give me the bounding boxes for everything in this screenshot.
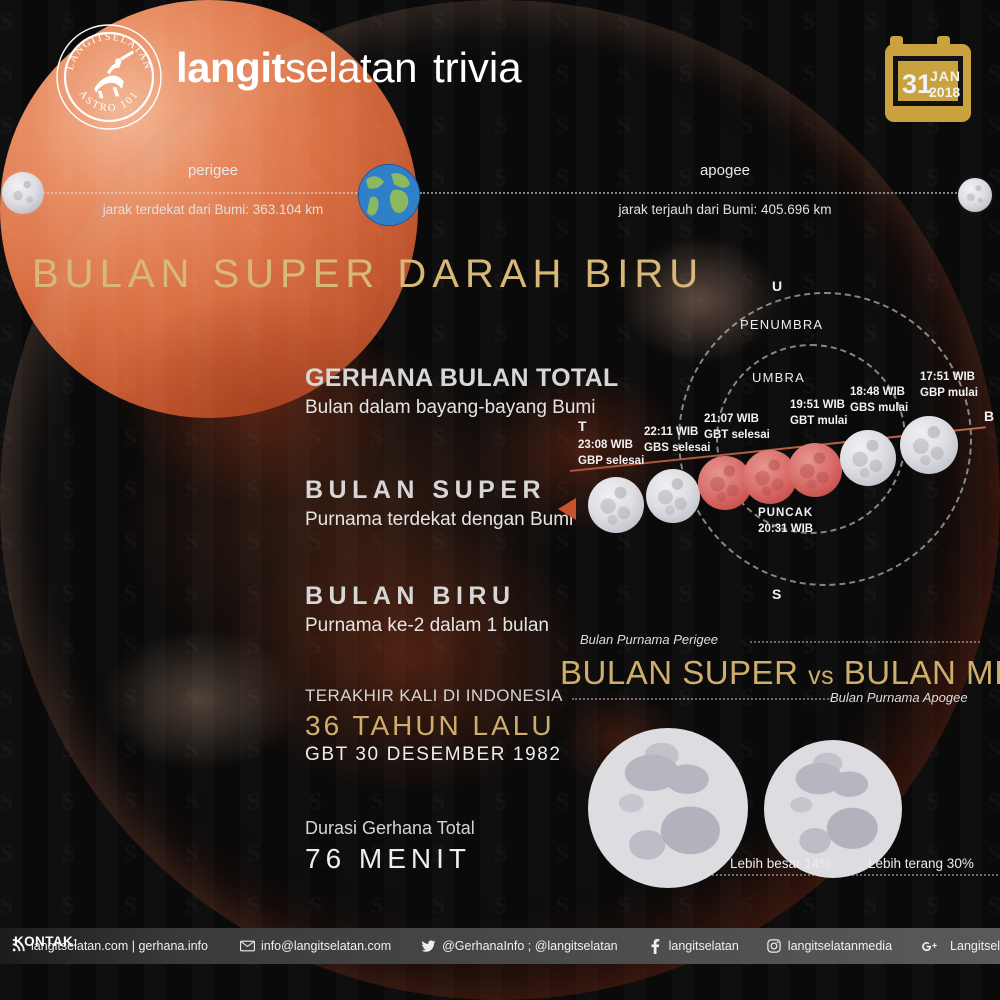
phase-event: GBT mulai: [790, 414, 848, 430]
svg-text:2018: 2018: [929, 84, 960, 100]
feature-subtext: Purnama terdekat dengan Bumi: [305, 509, 573, 531]
svg-text:ASTRO 101: ASTRO 101: [76, 89, 141, 115]
duration-label: Durasi Gerhana Total: [305, 818, 475, 839]
moon-phase-gbp-selesai: [588, 477, 644, 533]
brand-trivia: trivia: [433, 44, 522, 91]
brand-title: langitselatantrivia: [176, 44, 522, 92]
duration-value: 76 MENIT: [305, 843, 475, 875]
duration-block: Durasi Gerhana Total 76 MENIT: [305, 818, 475, 875]
perigee-label: perigee: [98, 162, 328, 179]
super-vs-mini-section: Bulan Purnama Perigee BULAN SUPER vs BUL…: [560, 628, 1000, 898]
kontak-label: KONTAK:: [14, 934, 78, 949]
peak-time: 20:31 WIB: [758, 522, 813, 538]
history-stats-block: TERAKHIR KALI DI INDONESIA 36 TAHUN LALU…: [305, 686, 563, 766]
svg-text:31: 31: [902, 69, 932, 99]
footer-item-text: langitselatan: [669, 939, 739, 953]
comparison-title-vs: vs: [808, 662, 834, 690]
phase-time: 18:48 WIB: [850, 385, 908, 401]
phase-event: GBS mulai: [850, 401, 908, 417]
moon-phase-gbt-mulai: [788, 443, 842, 497]
caption-lebih-terang: Lebih terang 30%: [868, 856, 974, 871]
feature-subtext: Purnama ke-2 dalam 1 bulan: [305, 615, 549, 637]
phase-label-gbp-mulai: 17:51 WIB GBP mulai: [920, 370, 978, 401]
comparison-bottom-dotline: [572, 698, 832, 700]
axis-label-selatan: S: [772, 586, 781, 602]
feature-heading: BULAN BIRU: [305, 582, 549, 611]
super-moon-maria: [588, 728, 748, 888]
years-ago-value: 36 TAHUN LALU: [305, 710, 563, 742]
apogee-label: apogee: [610, 162, 840, 179]
perigee-moon-icon: [2, 172, 44, 214]
phase-label-gbs-mulai: 18:48 WIB GBS mulai: [850, 385, 908, 416]
feature-heading: BULAN SUPER: [305, 476, 573, 505]
perigee-dotted-line: [36, 192, 360, 194]
footer-item-text: @GerhanaInfo ; @langitselatan: [442, 939, 617, 953]
comparison-title: BULAN SUPER vs BULAN MINI: [560, 654, 1000, 692]
comparison-top-dotline: [750, 641, 980, 643]
caption-lebih-besar: Lebih besar 14%: [730, 856, 831, 871]
calendar-date-badge: 31 JAN 2018 31 JAN 2018: [884, 32, 972, 124]
phase-event: GBS selesai: [644, 441, 710, 457]
instagram-icon: [767, 939, 782, 954]
comparison-title-left: BULAN SUPER: [560, 654, 798, 691]
comparison-top-note: Bulan Purnama Perigee: [580, 632, 718, 647]
footer-item-googleplus[interactable]: LangitselatanMedia: [920, 939, 1000, 954]
axis-label-barat: B: [984, 408, 994, 424]
phase-event: GBP mulai: [920, 386, 978, 402]
infographic-page: s s s s s s s s s s s s s s s s s s s s …: [0, 0, 1000, 1000]
eclipse-diagram: U S T B PENUMBRA UMBRA 23:08 WIB GBP sel…: [540, 270, 1000, 620]
comparison-caption-dotline: [708, 874, 998, 876]
brand-light: selatan: [285, 44, 417, 91]
header: LANGITSELATAN ASTRO 101 langitselatantri…: [0, 0, 1000, 148]
phase-time: 22:11 WIB: [644, 425, 710, 441]
phase-event: GBT selesai: [704, 428, 770, 444]
phase-label-gbt-selesai: 21:07 WIB GBT selesai: [704, 412, 770, 443]
phase-label-gbp-selesai: 23:08 WIB GBP selesai: [578, 438, 644, 469]
footer-item-text: LangitselatanMedia: [950, 939, 1000, 953]
orbit-distance-row: perigee jarak terdekat dari Bumi: 363.10…: [0, 150, 1000, 236]
moon-phase-gbs-selesai: [646, 469, 700, 523]
phase-event: GBP selesai: [578, 454, 644, 470]
super-moon-compare-disc: [588, 728, 748, 888]
apogee-detail: jarak terjauh dari Bumi: 405.696 km: [590, 202, 860, 217]
googleplus-icon: [920, 939, 944, 954]
phase-label-gbs-selesai: 22:11 WIB GBS selesai: [644, 425, 710, 456]
comparison-bottom-note: Bulan Purnama Apogee: [830, 690, 968, 705]
footer-contact-bar: langitselatan.com | gerhana.info info@la…: [0, 928, 1000, 964]
peak-label-block: PUNCAK 20:31 WIB: [758, 506, 813, 537]
svg-text:LANGITSELATAN: LANGITSELATAN: [65, 32, 154, 71]
phase-time: 23:08 WIB: [578, 438, 644, 454]
brand-bold: langit: [176, 44, 285, 91]
perigee-detail: jarak terdekat dari Bumi: 363.104 km: [78, 202, 348, 217]
earth-icon: [358, 164, 420, 226]
peak-label: PUNCAK: [758, 506, 813, 522]
phase-time: 21:07 WIB: [704, 412, 770, 428]
footer-item-email[interactable]: info@langitselatan.com: [240, 939, 391, 954]
moon-phase-gbs-mulai: [840, 430, 896, 486]
umbra-label: UMBRA: [752, 370, 805, 385]
moon-phase-gbp-mulai: [900, 416, 958, 474]
twitter-icon: [421, 939, 436, 954]
phase-label-gbt-mulai: 19:51 WIB GBT mulai: [790, 398, 848, 429]
phase-time: 17:51 WIB: [920, 370, 978, 386]
langitselatan-seal-logo: LANGITSELATAN ASTRO 101: [54, 22, 164, 132]
footer-item-text: info@langitselatan.com: [261, 939, 391, 953]
last-time-label: TERAKHIR KALI DI INDONESIA: [305, 686, 563, 706]
axis-label-utara: U: [772, 278, 782, 294]
apogee-dotted-line: [420, 192, 968, 194]
comparison-title-right: BULAN MINI: [844, 654, 1000, 691]
footer-item-facebook[interactable]: langitselatan: [648, 939, 739, 954]
feature-bulan-biru: BULAN BIRU Purnama ke-2 dalam 1 bulan: [305, 582, 549, 637]
footer-item-instagram[interactable]: langitselatanmedia: [767, 939, 892, 954]
footer-item-text: langitselatanmedia: [788, 939, 892, 953]
axis-label-timur: T: [578, 418, 587, 434]
apogee-moon-icon: [958, 178, 992, 212]
penumbra-label: PENUMBRA: [740, 317, 823, 332]
last-event-date: GBT 30 DESEMBER 1982: [305, 744, 563, 766]
phase-time: 19:51 WIB: [790, 398, 848, 414]
feature-bulan-super: BULAN SUPER Purnama terdekat dengan Bumi: [305, 476, 573, 531]
footer-item-twitter[interactable]: @GerhanaInfo ; @langitselatan: [421, 939, 617, 954]
svg-text:JAN: JAN: [930, 68, 961, 84]
direction-arrow-icon: [558, 498, 576, 520]
facebook-icon: [648, 939, 663, 954]
mail-icon: [240, 939, 255, 954]
